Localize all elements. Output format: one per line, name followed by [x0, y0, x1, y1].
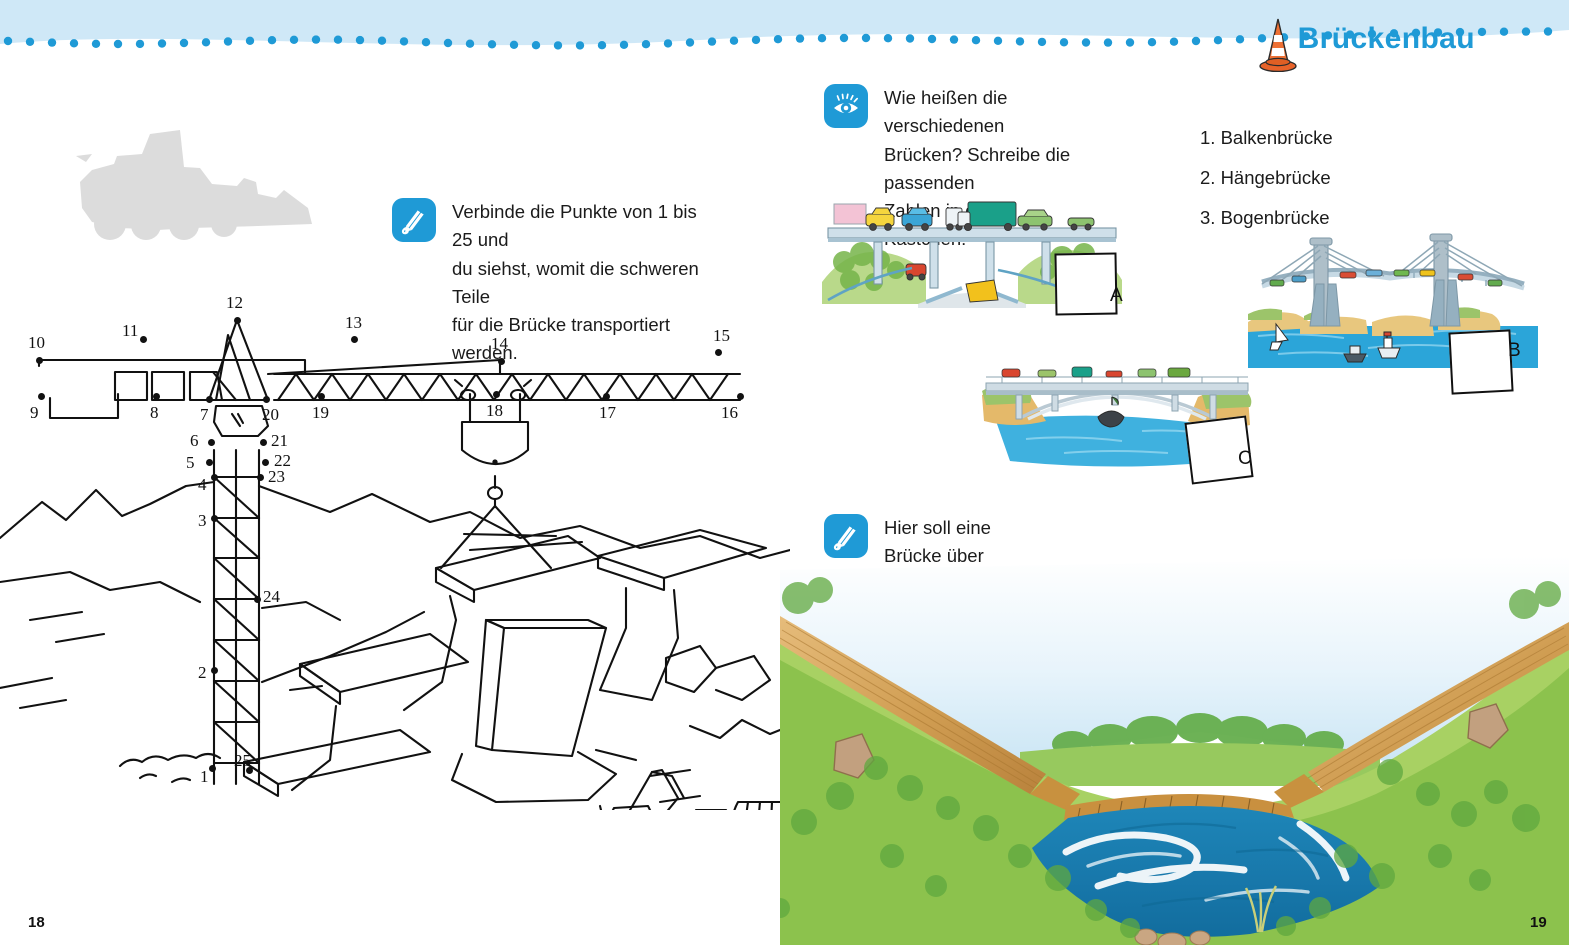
answer-box-a[interactable] — [1054, 252, 1117, 315]
dot-point-15[interactable] — [715, 349, 722, 356]
dot-label-3: 3 — [198, 511, 207, 531]
dot-to-dot-puzzle[interactable]: 1234567891011121314151617181920212223242… — [0, 290, 790, 810]
dot-point-16[interactable] — [737, 393, 744, 400]
dot-label-2: 2 — [198, 663, 207, 683]
dot-label-21: 21 — [271, 431, 288, 451]
dot-label-23: 23 — [268, 467, 285, 487]
river-valley-illustration[interactable] — [780, 556, 1569, 945]
activity-book-spread: Brückenbau Verbinde die Punkte von 1 bis… — [0, 0, 1569, 945]
dot-point-6[interactable] — [208, 439, 215, 446]
dot-label-15: 15 — [713, 326, 730, 346]
pencil-icon — [392, 198, 436, 242]
dot-point-12[interactable] — [234, 317, 241, 324]
dot-point-17[interactable] — [603, 393, 610, 400]
dot-point-5[interactable] — [206, 459, 213, 466]
dot-label-12: 12 — [226, 293, 243, 313]
bridge-label-c: C — [1238, 448, 1252, 470]
dot-label-19: 19 — [312, 403, 329, 423]
bridge-type-item-1: 1. Balkenbrücke — [1200, 118, 1333, 158]
dot-label-10: 10 — [28, 333, 45, 353]
dot-point-2[interactable] — [211, 667, 218, 674]
dot-point-20[interactable] — [263, 396, 270, 403]
dot-label-4: 4 — [198, 475, 207, 495]
dot-label-17: 17 — [599, 403, 616, 423]
pencil-icon — [824, 514, 868, 558]
page-title: Brückenbau — [1298, 22, 1475, 56]
dot-point-21[interactable] — [260, 439, 267, 446]
page-number-left: 18 — [28, 914, 45, 931]
dot-point-13[interactable] — [351, 336, 358, 343]
dot-point-10[interactable] — [36, 357, 43, 364]
page-number-right: 19 — [1530, 914, 1547, 931]
wheel-loader-silhouette — [62, 112, 334, 240]
dot-point-8[interactable] — [153, 393, 160, 400]
bridge-type-list: 1. Balkenbrücke 2. Hängebrücke 3. Bogenb… — [1200, 118, 1333, 237]
bridge-label-b: B — [1508, 340, 1521, 362]
dot-point-1[interactable] — [209, 765, 216, 772]
dot-label-13: 13 — [345, 313, 362, 333]
dot-label-1: 1 — [200, 767, 209, 787]
dot-point-19[interactable] — [318, 393, 325, 400]
dot-label-24: 24 — [263, 587, 280, 607]
bridge-type-item-2: 2. Hängebrücke — [1200, 158, 1333, 198]
dot-label-6: 6 — [190, 431, 199, 451]
answer-box-b[interactable] — [1448, 329, 1513, 394]
dot-point-22[interactable] — [262, 459, 269, 466]
dot-point-4[interactable] — [211, 474, 218, 481]
dot-label-16: 16 — [721, 403, 738, 423]
dot-label-11: 11 — [122, 321, 138, 341]
dot-point-7[interactable] — [206, 396, 213, 403]
dot-label-5: 5 — [186, 453, 195, 473]
dot-point-23[interactable] — [257, 474, 264, 481]
dot-label-9: 9 — [30, 403, 39, 423]
bridge-label-a: A — [1110, 285, 1123, 307]
dot-label-8: 8 — [150, 403, 159, 423]
dot-label-7: 7 — [200, 405, 209, 425]
dot-to-dot-line-art — [0, 290, 790, 810]
eye-icon — [824, 84, 868, 128]
traffic-cone-icon — [1255, 16, 1301, 72]
dot-point-24[interactable] — [254, 596, 261, 603]
dot-label-18: 18 — [486, 401, 503, 421]
dot-point-14[interactable] — [498, 358, 505, 365]
dot-label-14: 14 — [491, 334, 508, 354]
dot-label-25: 25 — [234, 751, 251, 771]
dot-point-18[interactable] — [493, 391, 500, 398]
dot-label-20: 20 — [262, 405, 279, 425]
dot-point-3[interactable] — [211, 515, 218, 522]
dot-point-9[interactable] — [38, 393, 45, 400]
dot-point-11[interactable] — [140, 336, 147, 343]
